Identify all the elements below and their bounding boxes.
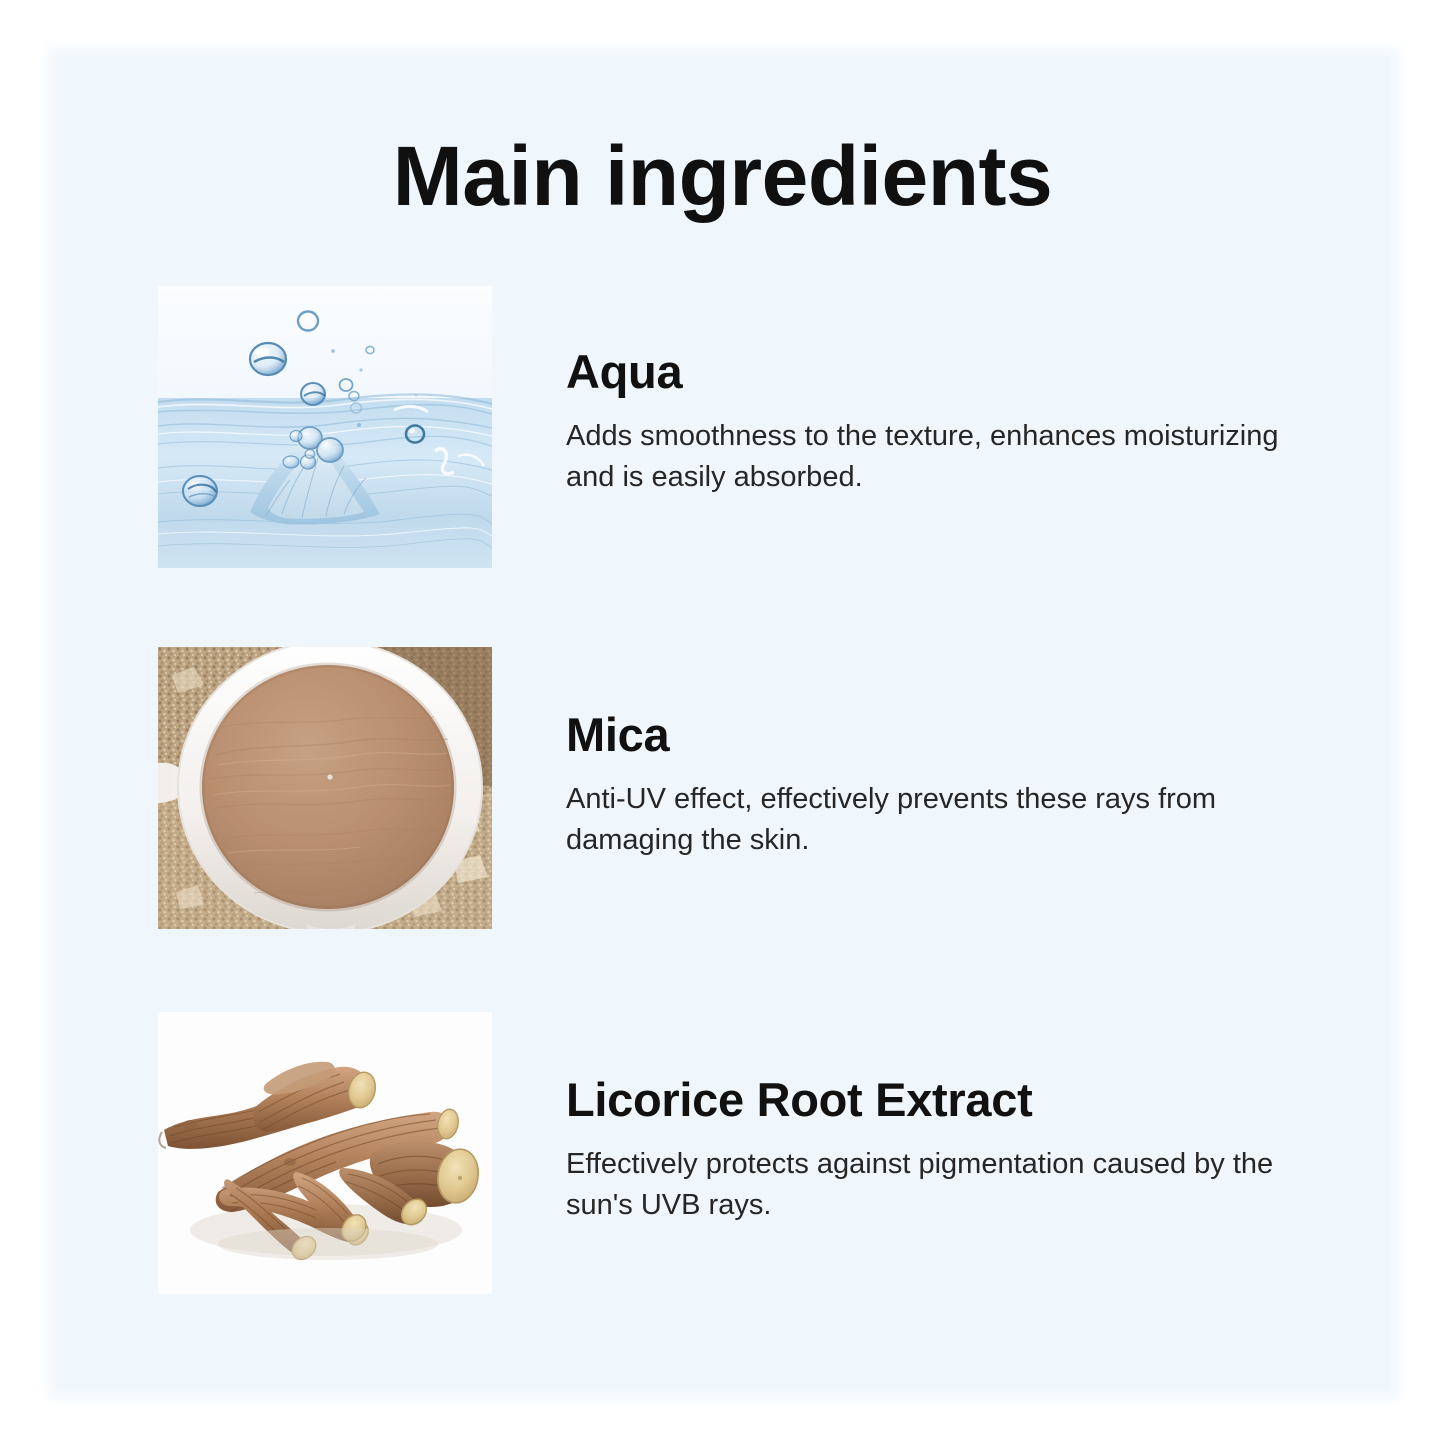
ingredient-description: Anti-UV effect, effectively prevents the…: [566, 779, 1306, 861]
mica-powder-illustration: [158, 647, 492, 929]
ingredient-row-licorice: Licorice Root Extract Effectively protec…: [0, 1012, 1445, 1312]
ingredients-infographic: Main ingredients: [0, 0, 1445, 1445]
water-splash-illustration: [158, 286, 492, 568]
ingredient-name: Licorice Root Extract: [566, 1072, 1306, 1128]
ingredient-row-mica: Mica Anti-UV effect, effectively prevent…: [0, 647, 1445, 947]
ingredient-copy-licorice: Licorice Root Extract Effectively protec…: [566, 1072, 1306, 1226]
ingredient-copy-mica: Mica Anti-UV effect, effectively prevent…: [566, 707, 1306, 861]
ingredient-row-aqua: Aqua Adds smoothness to the texture, enh…: [0, 286, 1445, 586]
ingredient-copy-aqua: Aqua Adds smoothness to the texture, enh…: [566, 344, 1306, 498]
ingredient-description: Effectively protects against pigmentatio…: [566, 1144, 1306, 1226]
mica-powder-photo: [158, 647, 492, 929]
ingredient-description: Adds smoothness to the texture, enhances…: [566, 416, 1306, 498]
licorice-root-illustration: [158, 1012, 492, 1294]
water-splash-photo: [158, 286, 492, 568]
page-title: Main ingredients: [0, 128, 1445, 224]
licorice-root-photo: [158, 1012, 492, 1294]
ingredient-name: Aqua: [566, 344, 1306, 400]
ingredient-name: Mica: [566, 707, 1306, 763]
